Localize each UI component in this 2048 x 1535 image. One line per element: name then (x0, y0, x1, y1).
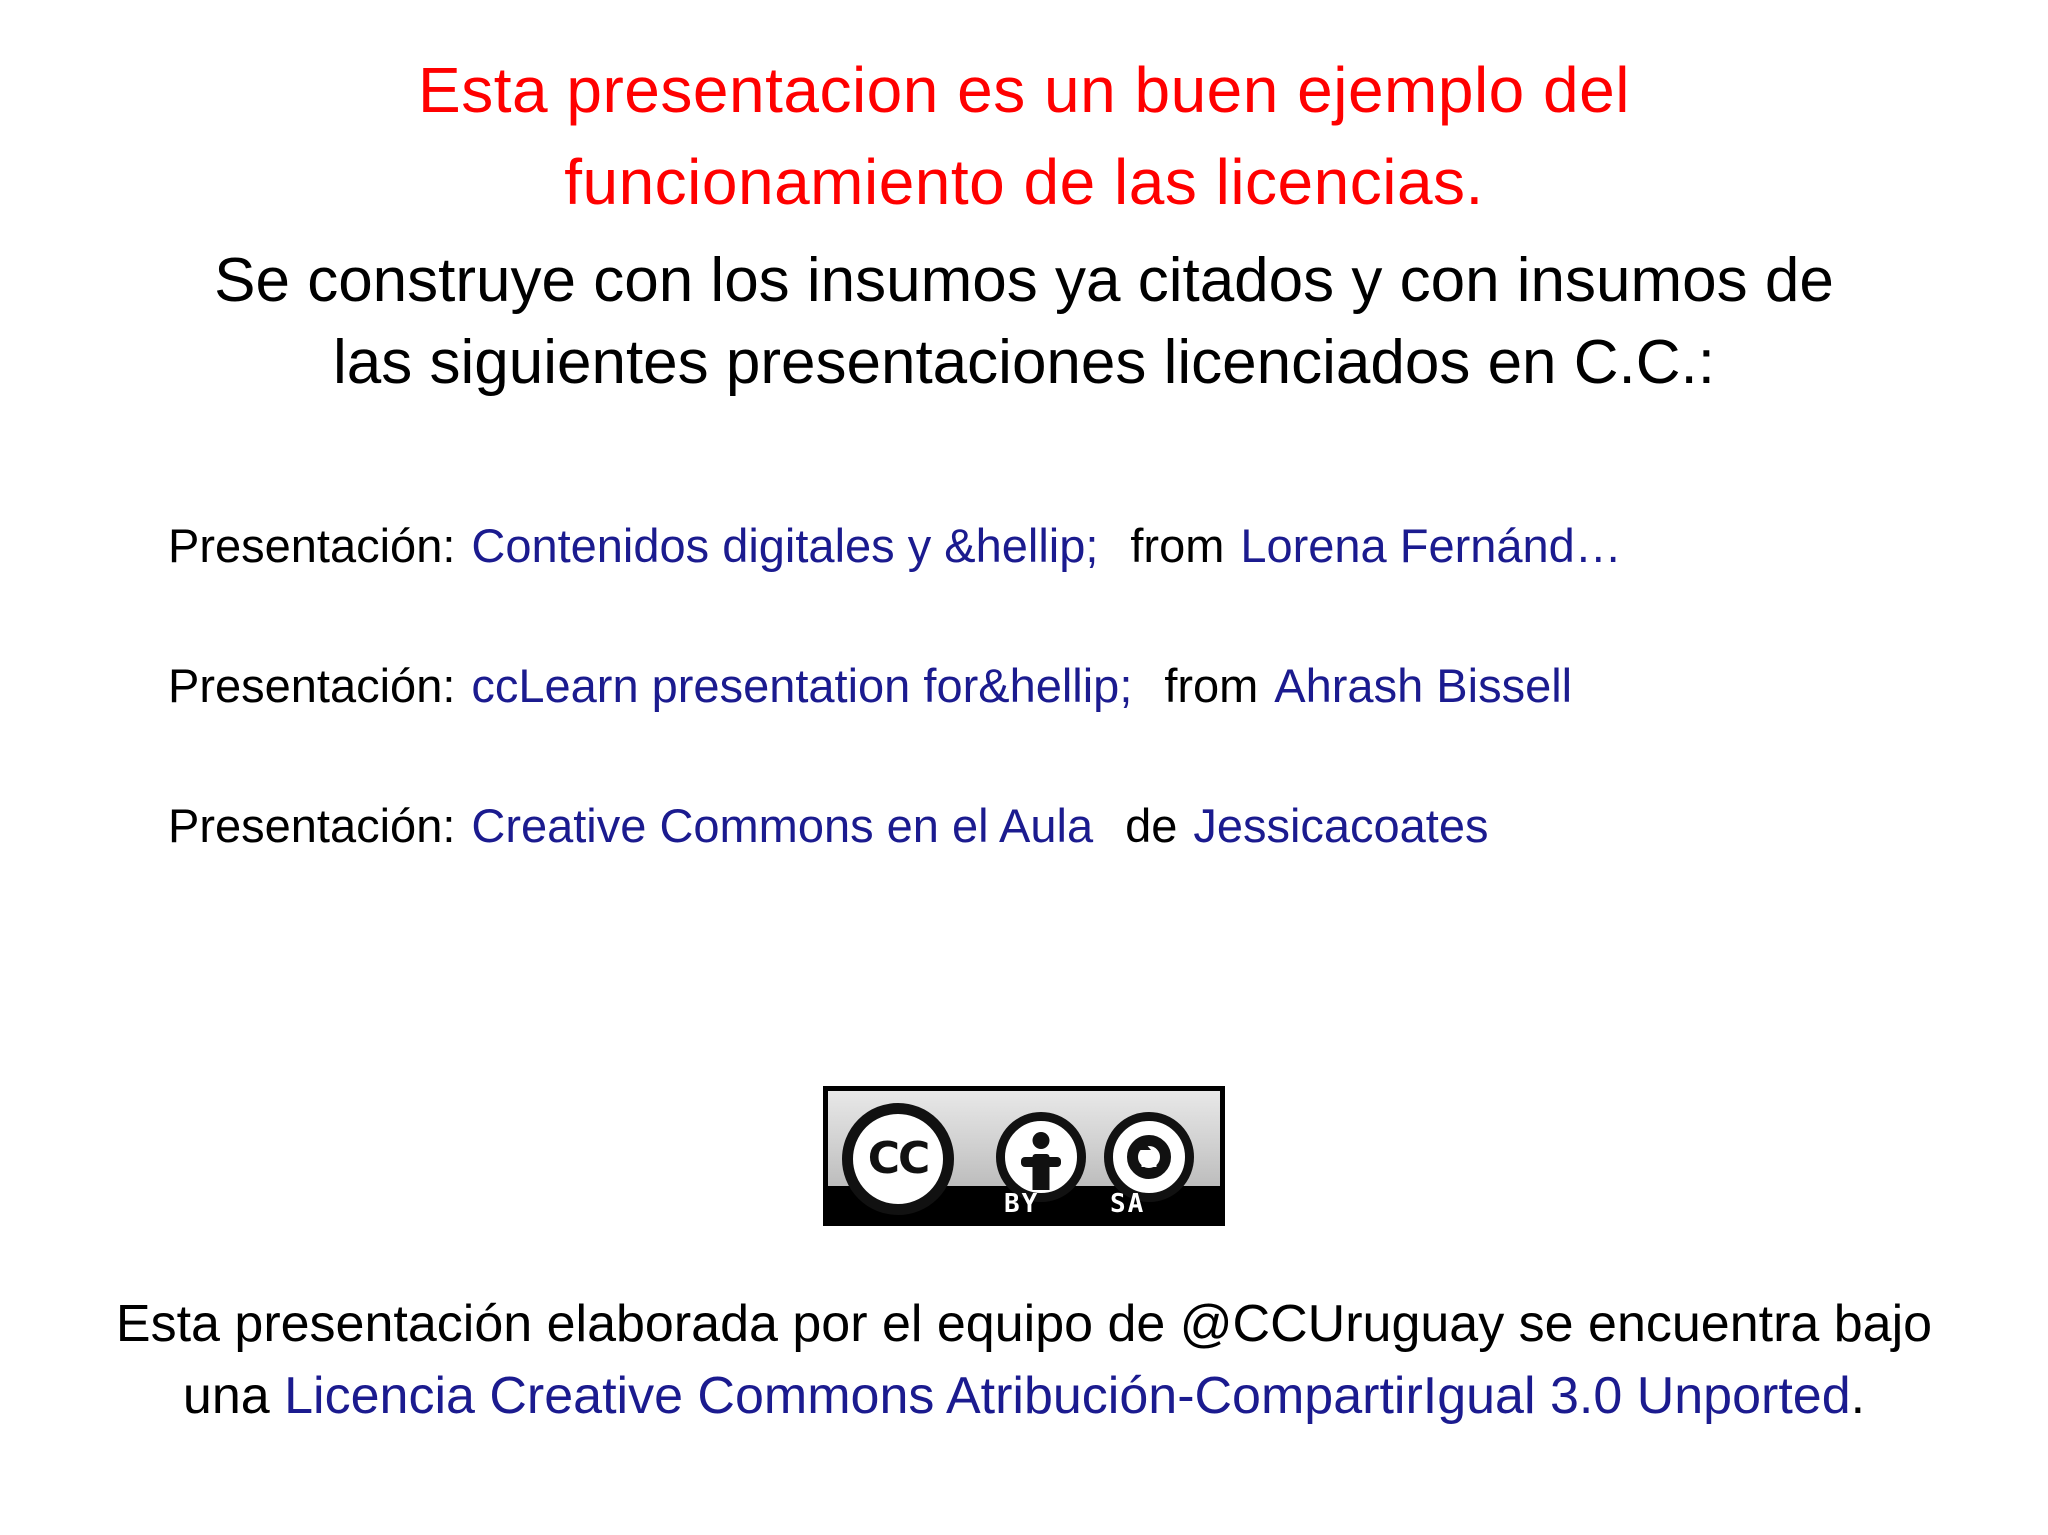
credit-author-link-1[interactable]: Lorena Fernánd… (1240, 519, 1621, 572)
credit-author-link-3[interactable]: Jessicacoates (1193, 799, 1488, 852)
slide-subtitle: Se construye con los insumos ya citados … (50, 240, 1998, 404)
credit-item-2: Presentación:ccLearn presentation for&he… (168, 658, 1928, 798)
cc-by-sa-badge[interactable]: CC BY SA (823, 1086, 1225, 1226)
subtitle-line-1: Se construye con los insumos ya citados … (50, 240, 1998, 322)
credits-list: Presentación:Contenidos digitales y &hel… (168, 518, 1928, 938)
credit-author-link-2[interactable]: Ahrash Bissell (1274, 659, 1572, 712)
credit-title-link-2[interactable]: ccLearn presentation for&hellip; (471, 659, 1132, 712)
cc-mark-text: CC (868, 1137, 929, 1181)
footer-line-2-prefix: una (183, 1367, 284, 1425)
license-footer: Esta presentación elaborada por el equip… (30, 1288, 2018, 1432)
title-line-2: funcionamiento de las licencias. (120, 136, 1928, 228)
person-head-shape (1033, 1132, 1050, 1149)
footer-line-2: una Licencia Creative Commons Atribución… (30, 1360, 2018, 1432)
credit-item-3: Presentación:Creative Commons en el Aula… (168, 798, 1928, 938)
credit-title-link-1[interactable]: Contenidos digitales y &hellip; (471, 519, 1098, 572)
slide-title: Esta presentacion es un buen ejemplo del… (120, 44, 1928, 228)
share-alike-arrow-shape (1129, 1137, 1151, 1150)
slide-canvas: Esta presentacion es un buen ejemplo del… (0, 0, 2048, 1535)
subtitle-line-2: las siguientes presentaciones licenciado… (50, 322, 1998, 404)
person-body-shape (1033, 1154, 1050, 1190)
creative-commons-icon: CC (842, 1103, 954, 1215)
badge-sa-label: SA (1110, 1188, 1145, 1220)
share-alike-notch-shape (1142, 1154, 1157, 1167)
credit-label-3: Presentación: (168, 799, 455, 852)
credit-connector-3: de (1125, 799, 1177, 852)
license-badge-wrapper: CC BY SA (0, 1086, 2048, 1226)
license-link[interactable]: Licencia Creative Commons Atribución-Com… (284, 1367, 1851, 1425)
title-line-1: Esta presentacion es un buen ejemplo del (120, 44, 1928, 136)
credit-connector-1: from (1130, 519, 1224, 572)
credit-connector-2: from (1164, 659, 1258, 712)
badge-by-label: BY (1004, 1188, 1039, 1220)
credit-item-1: Presentación:Contenidos digitales y &hel… (168, 518, 1928, 658)
footer-line-2-suffix: . (1851, 1367, 1865, 1425)
credit-title-link-3[interactable]: Creative Commons en el Aula (471, 799, 1093, 852)
footer-line-1: Esta presentación elaborada por el equip… (30, 1288, 2018, 1360)
credit-label-1: Presentación: (168, 519, 455, 572)
credit-label-2: Presentación: (168, 659, 455, 712)
